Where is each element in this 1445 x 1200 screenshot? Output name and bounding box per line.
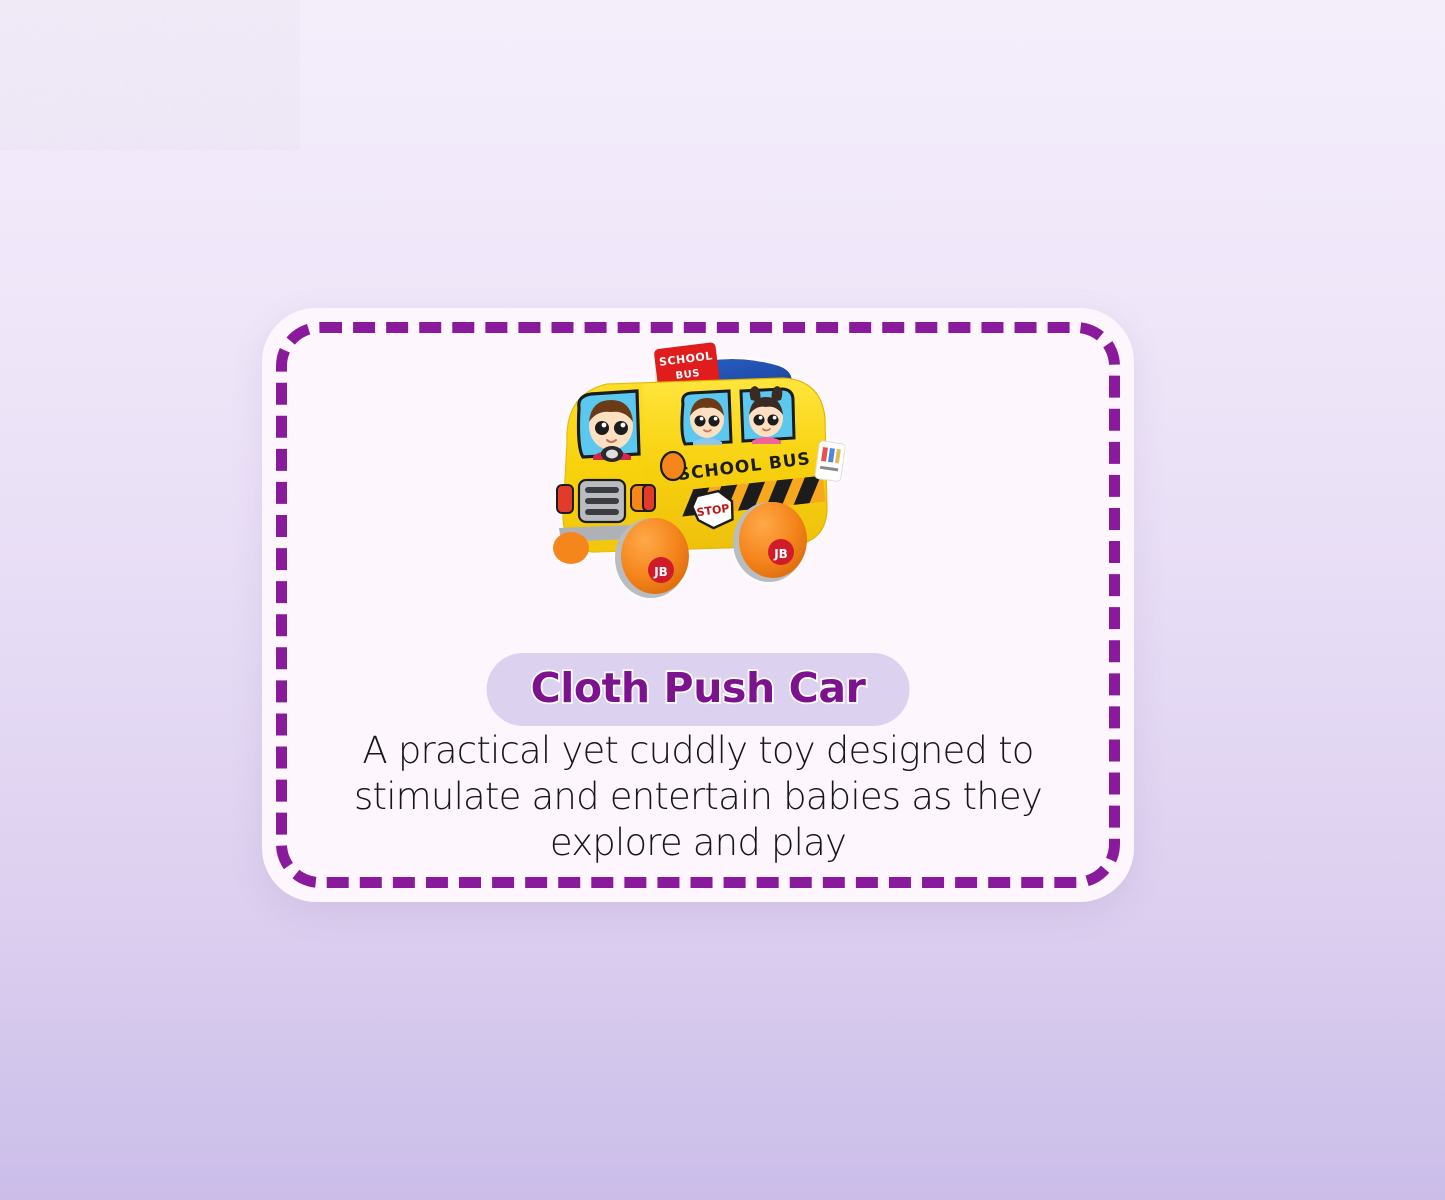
background-grain-texture	[0, 0, 300, 150]
svg-text:JB: JB	[773, 547, 788, 561]
page-root: SCHOOL BUS	[0, 0, 1445, 1200]
product-description: A practical yet cuddly toy designed to s…	[318, 728, 1078, 866]
product-title-pill: Cloth Push Car	[487, 653, 910, 726]
product-image-plush-school-bus: SCHOOL BUS	[533, 330, 863, 630]
product-card: SCHOOL BUS	[262, 308, 1134, 902]
svg-text:JB: JB	[653, 565, 668, 579]
product-title: Cloth Push Car	[531, 664, 866, 712]
